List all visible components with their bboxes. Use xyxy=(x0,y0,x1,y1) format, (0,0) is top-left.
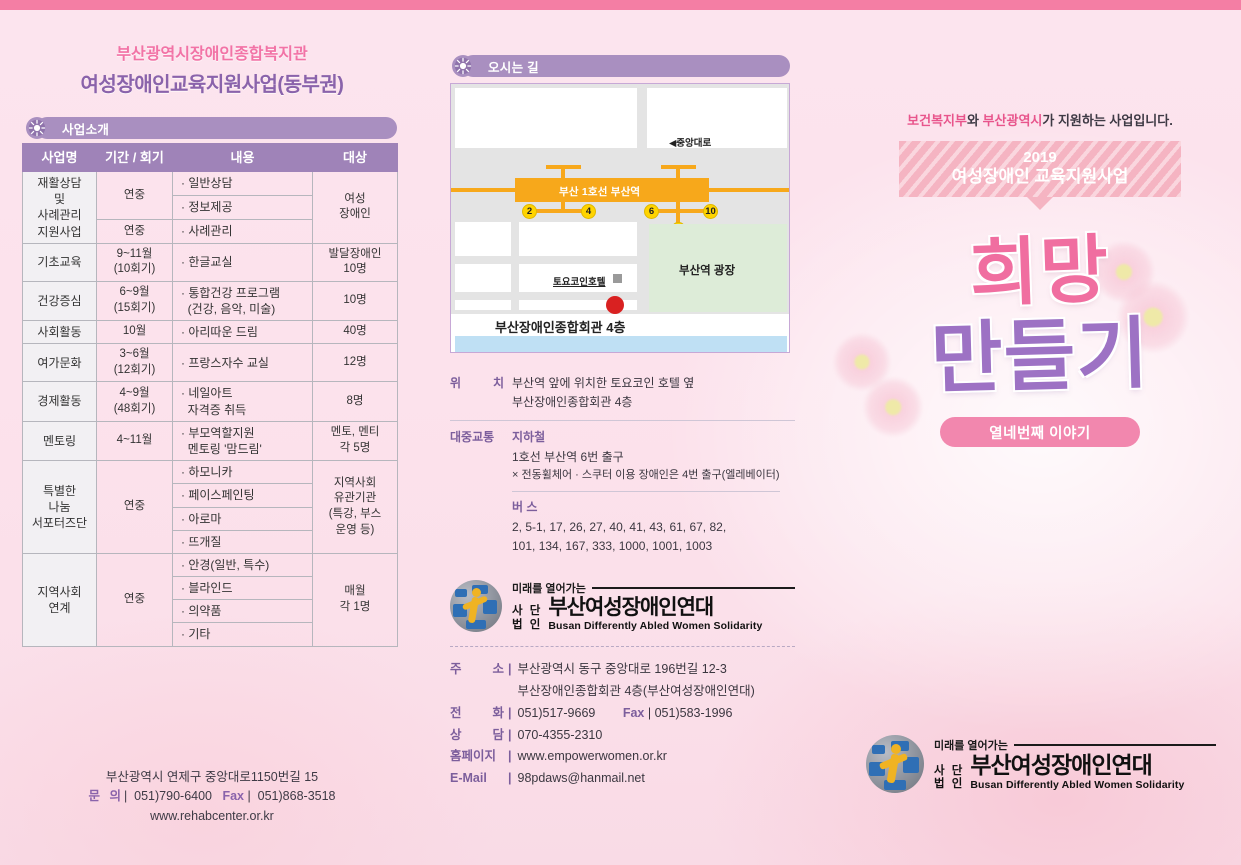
brand-line-2: 여성장애인교육지원사업(동부권) xyxy=(22,68,402,97)
cell-content: · 한글교실 xyxy=(173,243,313,281)
info-row-transport: 대중교통 지하철 1호선 부산역 6번 출구 × 전동휠체어 · 스쿠터 이용 … xyxy=(450,420,795,564)
subway-heading: 지하철 xyxy=(512,428,780,447)
contact-sep: | xyxy=(508,725,518,747)
middle-column: 오시는 길 ◀중앙대로 부산 1호선 부산역 2 xyxy=(450,55,800,790)
cell-content: · 프랑스자수 교실 xyxy=(173,344,313,382)
info-label-location: 위치 xyxy=(450,374,512,412)
sunburst-icon xyxy=(452,55,474,77)
logo-name-en: Busan Differently Abled Women Solidarity xyxy=(548,620,762,632)
cell-content: · 페이스페인팅 xyxy=(173,484,313,507)
logo-tagline: 미래를 열어가는 xyxy=(512,580,586,596)
table-row: 경제활동 4~9월(48회기) · 네일아트 자격증 취득 8명 xyxy=(23,382,398,421)
cell-content: · 네일아트 자격증 취득 xyxy=(173,382,313,421)
directions-title: 오시는 길 xyxy=(462,55,790,77)
cell-content: · 일반상담 xyxy=(173,172,313,196)
fax-value: 051)868-3518 xyxy=(258,789,336,803)
bus-line-2: 101, 134, 167, 333, 1000, 1001, 1003 xyxy=(512,537,780,556)
contact-row-website: 홈페이지 | www.empowerwomen.or.kr xyxy=(450,746,800,768)
hero-line-2: 만들기 xyxy=(854,312,1226,400)
location-map[interactable]: ◀중앙대로 부산 1호선 부산역 2 4 6 10 8 xyxy=(450,83,790,353)
subway-line-1: 1호선 부산역 6번 출구 xyxy=(512,448,780,467)
hero-title-block: 희망 만들기 열네번째 이야기 xyxy=(855,235,1225,485)
info-row-location: 위치 부산역 앞에 위치한 토요코인 호텔 옆 부산장애인종합회관 4층 xyxy=(450,367,795,420)
cell-period: 연중 xyxy=(97,172,173,220)
tel-number: 051)517-9669 xyxy=(518,706,596,720)
globe-logo-icon xyxy=(866,735,924,793)
table-row: 특별한나눔서포터즈단 연중 · 하모니카 지역사회유관기관(특강, 부스운영 등… xyxy=(23,461,398,484)
address-line-1: 부산광역시 동구 중앙대로 196번길 12-3 xyxy=(518,659,801,681)
directions-header: 오시는 길 xyxy=(450,55,790,77)
contact-value-website[interactable]: www.empowerwomen.or.kr xyxy=(518,746,801,768)
cell-name: 지역사회연계 xyxy=(23,553,97,646)
bus-heading: 버 스 xyxy=(512,498,780,517)
cell-content: · 뜨개질 xyxy=(173,530,313,553)
cell-period: 연중 xyxy=(97,219,173,243)
map-road-label: ◀중앙대로 xyxy=(669,135,711,149)
contact-row-counsel: 상담 | 070-4355-2310 xyxy=(450,725,800,747)
program-banner: 2019 여성장애인 교육지원사업 xyxy=(899,141,1181,197)
cell-target: 발달장애인10명 xyxy=(313,243,398,281)
footer-divider xyxy=(450,646,795,647)
fax-number: 051)583-1996 xyxy=(655,706,733,720)
org-contact-list: 주소 | 부산광역시 동구 중앙대로 196번길 12-3 부산장애인종합회관 … xyxy=(450,659,800,790)
cell-content: · 통합건강 프로그램 (건강, 음악, 미술) xyxy=(173,281,313,320)
contact-row-tel: 전화 | 051)517-9669 Fax | 051)583-1996 xyxy=(450,703,800,725)
contact-value-email[interactable]: 98pdaws@hanmail.net xyxy=(518,768,801,790)
cell-content: · 부모역할지원 멘토링 '맘드림' xyxy=(173,421,313,460)
cell-period: 3~6월(12회기) xyxy=(97,344,173,382)
sunburst-icon xyxy=(26,117,48,139)
logo-rule xyxy=(1014,744,1216,746)
cell-period: 4~9월(48회기) xyxy=(97,382,173,421)
map-exit-6: 6 xyxy=(644,204,659,219)
brochure-page: 부산광역시장애인종합복지관 여성장애인교육지원사업(동부권) xyxy=(0,0,1241,865)
location-line-1: 부산역 앞에 위치한 토요코인 호텔 옆 xyxy=(512,374,694,393)
th-content: 내용 xyxy=(173,144,313,172)
cell-content: · 아리따운 드림 xyxy=(173,321,313,344)
contact-value-address: 부산광역시 동구 중앙대로 196번길 12-3 부산장애인종합회관 4층(부산… xyxy=(518,659,801,703)
cell-period: 연중 xyxy=(97,553,173,646)
cell-content: · 사례관리 xyxy=(173,219,313,243)
th-name: 사업명 xyxy=(23,144,97,172)
program-table: 사업명 기간 / 회기 내용 대상 재활상담및사례관리지원사업 연중 · 일반상… xyxy=(22,143,398,647)
contact-label-tel: 전화 xyxy=(450,703,508,725)
support-ministry: 보건복지부 xyxy=(907,113,967,128)
cell-period: 10월 xyxy=(97,321,173,344)
th-target: 대상 xyxy=(313,144,398,172)
brand-line-1: 부산광역시장애인종합복지관 xyxy=(22,40,402,64)
location-line-2: 부산장애인종합회관 4층 xyxy=(512,393,694,412)
cell-content: · 하모니카 xyxy=(173,461,313,484)
logo-name-kr: 부산여성장애인연대 xyxy=(970,754,1184,777)
info-value-transport: 지하철 1호선 부산역 6번 출구 × 전동휠체어 · 스쿠터 이용 장애인은 … xyxy=(512,428,780,556)
logo-beobin: 법 인 xyxy=(934,778,964,791)
map-station-bar-label: 부산 1호선 부산역 xyxy=(559,184,640,199)
cell-name: 건강증심 xyxy=(23,281,97,320)
support-post: 가 지원하는 사업입니다. xyxy=(1042,113,1172,128)
top-stripe xyxy=(0,0,1241,10)
cell-target: 매월각 1명 xyxy=(313,553,398,646)
contact-value-counsel: 070-4355-2310 xyxy=(518,725,801,747)
left-footer: 부산광역시 연제구 중앙대로1150번길 15 문 의| 051)790-640… xyxy=(22,768,402,826)
cell-content: · 블라인드 xyxy=(173,577,313,600)
subway-line-2: × 전동휠체어 · 스쿠터 이용 장애인은 4번 출구(엘레베이터) xyxy=(512,467,780,485)
contact-sep: | xyxy=(508,703,518,725)
info-label-transport: 대중교통 xyxy=(450,428,512,556)
cell-content: · 안경(일반, 특수) xyxy=(173,553,313,576)
logo-name-en: Busan Differently Abled Women Solidarity xyxy=(970,779,1184,791)
logo-beobin: 법 인 xyxy=(512,619,542,632)
cell-content: · 정보제공 xyxy=(173,195,313,219)
cell-name: 사회활동 xyxy=(23,321,97,344)
contact-value-tel: 051)517-9669 Fax | 051)583-1996 xyxy=(518,703,801,725)
directions-info-list: 위치 부산역 앞에 위치한 토요코인 호텔 옆 부산장애인종합회관 4층 대중교… xyxy=(450,367,795,564)
fax-sep: | xyxy=(244,789,258,803)
cell-content: · 아로마 xyxy=(173,507,313,530)
tel-label: 문 의 xyxy=(88,789,123,803)
map-exit-2: 2 xyxy=(522,204,537,219)
cell-target: 멘토, 멘티각 5명 xyxy=(313,421,398,460)
map-hotel-label: 토요코인호텔 xyxy=(553,274,605,288)
rehab-website[interactable]: www.rehabcenter.or.kr xyxy=(22,807,402,826)
program-intro-title: 사업소개 xyxy=(36,117,397,139)
transport-divider xyxy=(512,491,780,492)
logo-tagline: 미래를 열어가는 xyxy=(934,737,1008,753)
rehab-contact-line: 문 의| 051)790-6400 Fax | 051)868-3518 xyxy=(22,787,402,806)
globe-logo-icon xyxy=(450,580,502,632)
contact-label-email: E-Mail xyxy=(450,768,508,790)
cell-period: 6~9월(15회기) xyxy=(97,281,173,320)
cell-target: 10명 xyxy=(313,281,398,320)
support-mid: 와 xyxy=(967,113,983,128)
th-period: 기간 / 회기 xyxy=(97,144,173,172)
table-row: 멘토링 4~11월 · 부모역할지원 멘토링 '맘드림' 멘토, 멘티각 5명 xyxy=(23,421,398,460)
hero-badge: 열네번째 이야기 xyxy=(940,417,1140,447)
rehab-address: 부산광역시 연제구 중앙대로1150번길 15 xyxy=(22,768,402,787)
table-row: 사회활동 10월 · 아리따운 드림 40명 xyxy=(23,321,398,344)
fax-label: Fax xyxy=(222,789,244,803)
tel-sep: | xyxy=(124,789,134,803)
org-logo-right: 미래를 열어가는 사 단 법 인 부산여성장애인연대 Busan Differe… xyxy=(866,735,1216,793)
banner-title: 여성장애인 교육지원사업 xyxy=(952,166,1129,188)
left-column: 부산광역시장애인종합복지관 여성장애인교육지원사업(동부권) xyxy=(22,40,402,647)
contact-sep: | xyxy=(508,746,518,768)
cell-name: 여가문화 xyxy=(23,344,97,382)
support-city: 부산광역시 xyxy=(983,113,1043,128)
contact-label-counsel: 상담 xyxy=(450,725,508,747)
support-line: 보건복지부와 부산광역시가 지원하는 사업입니다. xyxy=(855,110,1225,129)
logo-name-kr: 부산여성장애인연대 xyxy=(548,597,762,618)
table-row: 건강증심 6~9월(15회기) · 통합건강 프로그램 (건강, 음악, 미술)… xyxy=(23,281,398,320)
cell-name: 특별한나눔서포터즈단 xyxy=(23,461,97,554)
cell-target: 8명 xyxy=(313,382,398,421)
cell-target: 12명 xyxy=(313,344,398,382)
table-header-row: 사업명 기간 / 회기 내용 대상 xyxy=(23,144,398,172)
cell-name: 재활상담및사례관리지원사업 xyxy=(23,172,97,244)
cell-name: 멘토링 xyxy=(23,421,97,460)
cell-name: 경제활동 xyxy=(23,382,97,421)
table-row: 기초교육 9~11월(10회기) · 한글교실 발달장애인10명 xyxy=(23,243,398,281)
map-destination-marker xyxy=(606,296,624,314)
banner-year: 2019 xyxy=(1023,150,1056,167)
map-exit-4: 4 xyxy=(581,204,596,219)
program-intro-header: 사업소개 xyxy=(22,117,397,139)
right-column: 보건복지부와 부산광역시가 지원하는 사업입니다. 2019 여성장애인 교육지… xyxy=(855,110,1225,485)
map-plaza-label: 부산역 광장 xyxy=(679,262,735,278)
cell-period: 4~11월 xyxy=(97,421,173,460)
contact-label-address: 주소 xyxy=(450,659,508,703)
cell-content: · 의약품 xyxy=(173,600,313,623)
tel-value: 051)790-6400 xyxy=(134,789,212,803)
bus-line-1: 2, 5-1, 17, 26, 27, 40, 41, 43, 61, 67, … xyxy=(512,518,780,537)
logo-sadan: 사 단 xyxy=(934,765,964,778)
fax-label: Fax xyxy=(623,706,645,720)
table-row: 여가문화 3~6월(12회기) · 프랑스자수 교실 12명 xyxy=(23,344,398,382)
cell-target: 40명 xyxy=(313,321,398,344)
cell-content: · 기타 xyxy=(173,623,313,646)
contact-row-email: E-Mail | 98pdaws@hanmail.net xyxy=(450,768,800,790)
map-hotel-marker xyxy=(613,274,622,283)
cell-period: 연중 xyxy=(97,461,173,554)
table-row: 재활상담및사례관리지원사업 연중 · 일반상담 여성장애인 xyxy=(23,172,398,196)
cell-target: 여성장애인 xyxy=(313,172,398,244)
contact-sep: | xyxy=(508,768,518,790)
contact-sep: | xyxy=(508,659,518,703)
map-building-label: 부산장애인종합회관 4층 xyxy=(495,317,625,336)
hero-line-1: 희망 xyxy=(854,229,1226,316)
fax-sep: | xyxy=(648,706,651,720)
contact-row-address: 주소 | 부산광역시 동구 중앙대로 196번길 12-3 부산장애인종합회관 … xyxy=(450,659,800,703)
table-row: 지역사회연계 연중 · 안경(일반, 특수) 매월각 1명 xyxy=(23,553,398,576)
info-value-location: 부산역 앞에 위치한 토요코인 호텔 옆 부산장애인종합회관 4층 xyxy=(512,374,694,412)
org-logo-middle: 미래를 열어가는 사 단 법 인 부산여성장애인연대 Busan Differe… xyxy=(450,580,795,632)
contact-label-website: 홈페이지 xyxy=(450,746,508,768)
logo-sadan: 사 단 xyxy=(512,605,542,618)
cell-target: 지역사회유관기관(특강, 부스운영 등) xyxy=(313,461,398,554)
map-exit-10: 10 xyxy=(703,204,718,219)
cell-name: 기초교육 xyxy=(23,243,97,281)
logo-rule xyxy=(592,587,795,589)
cell-period: 9~11월(10회기) xyxy=(97,243,173,281)
address-line-2: 부산장애인종합회관 4층(부산여성장애인연대) xyxy=(518,681,801,703)
